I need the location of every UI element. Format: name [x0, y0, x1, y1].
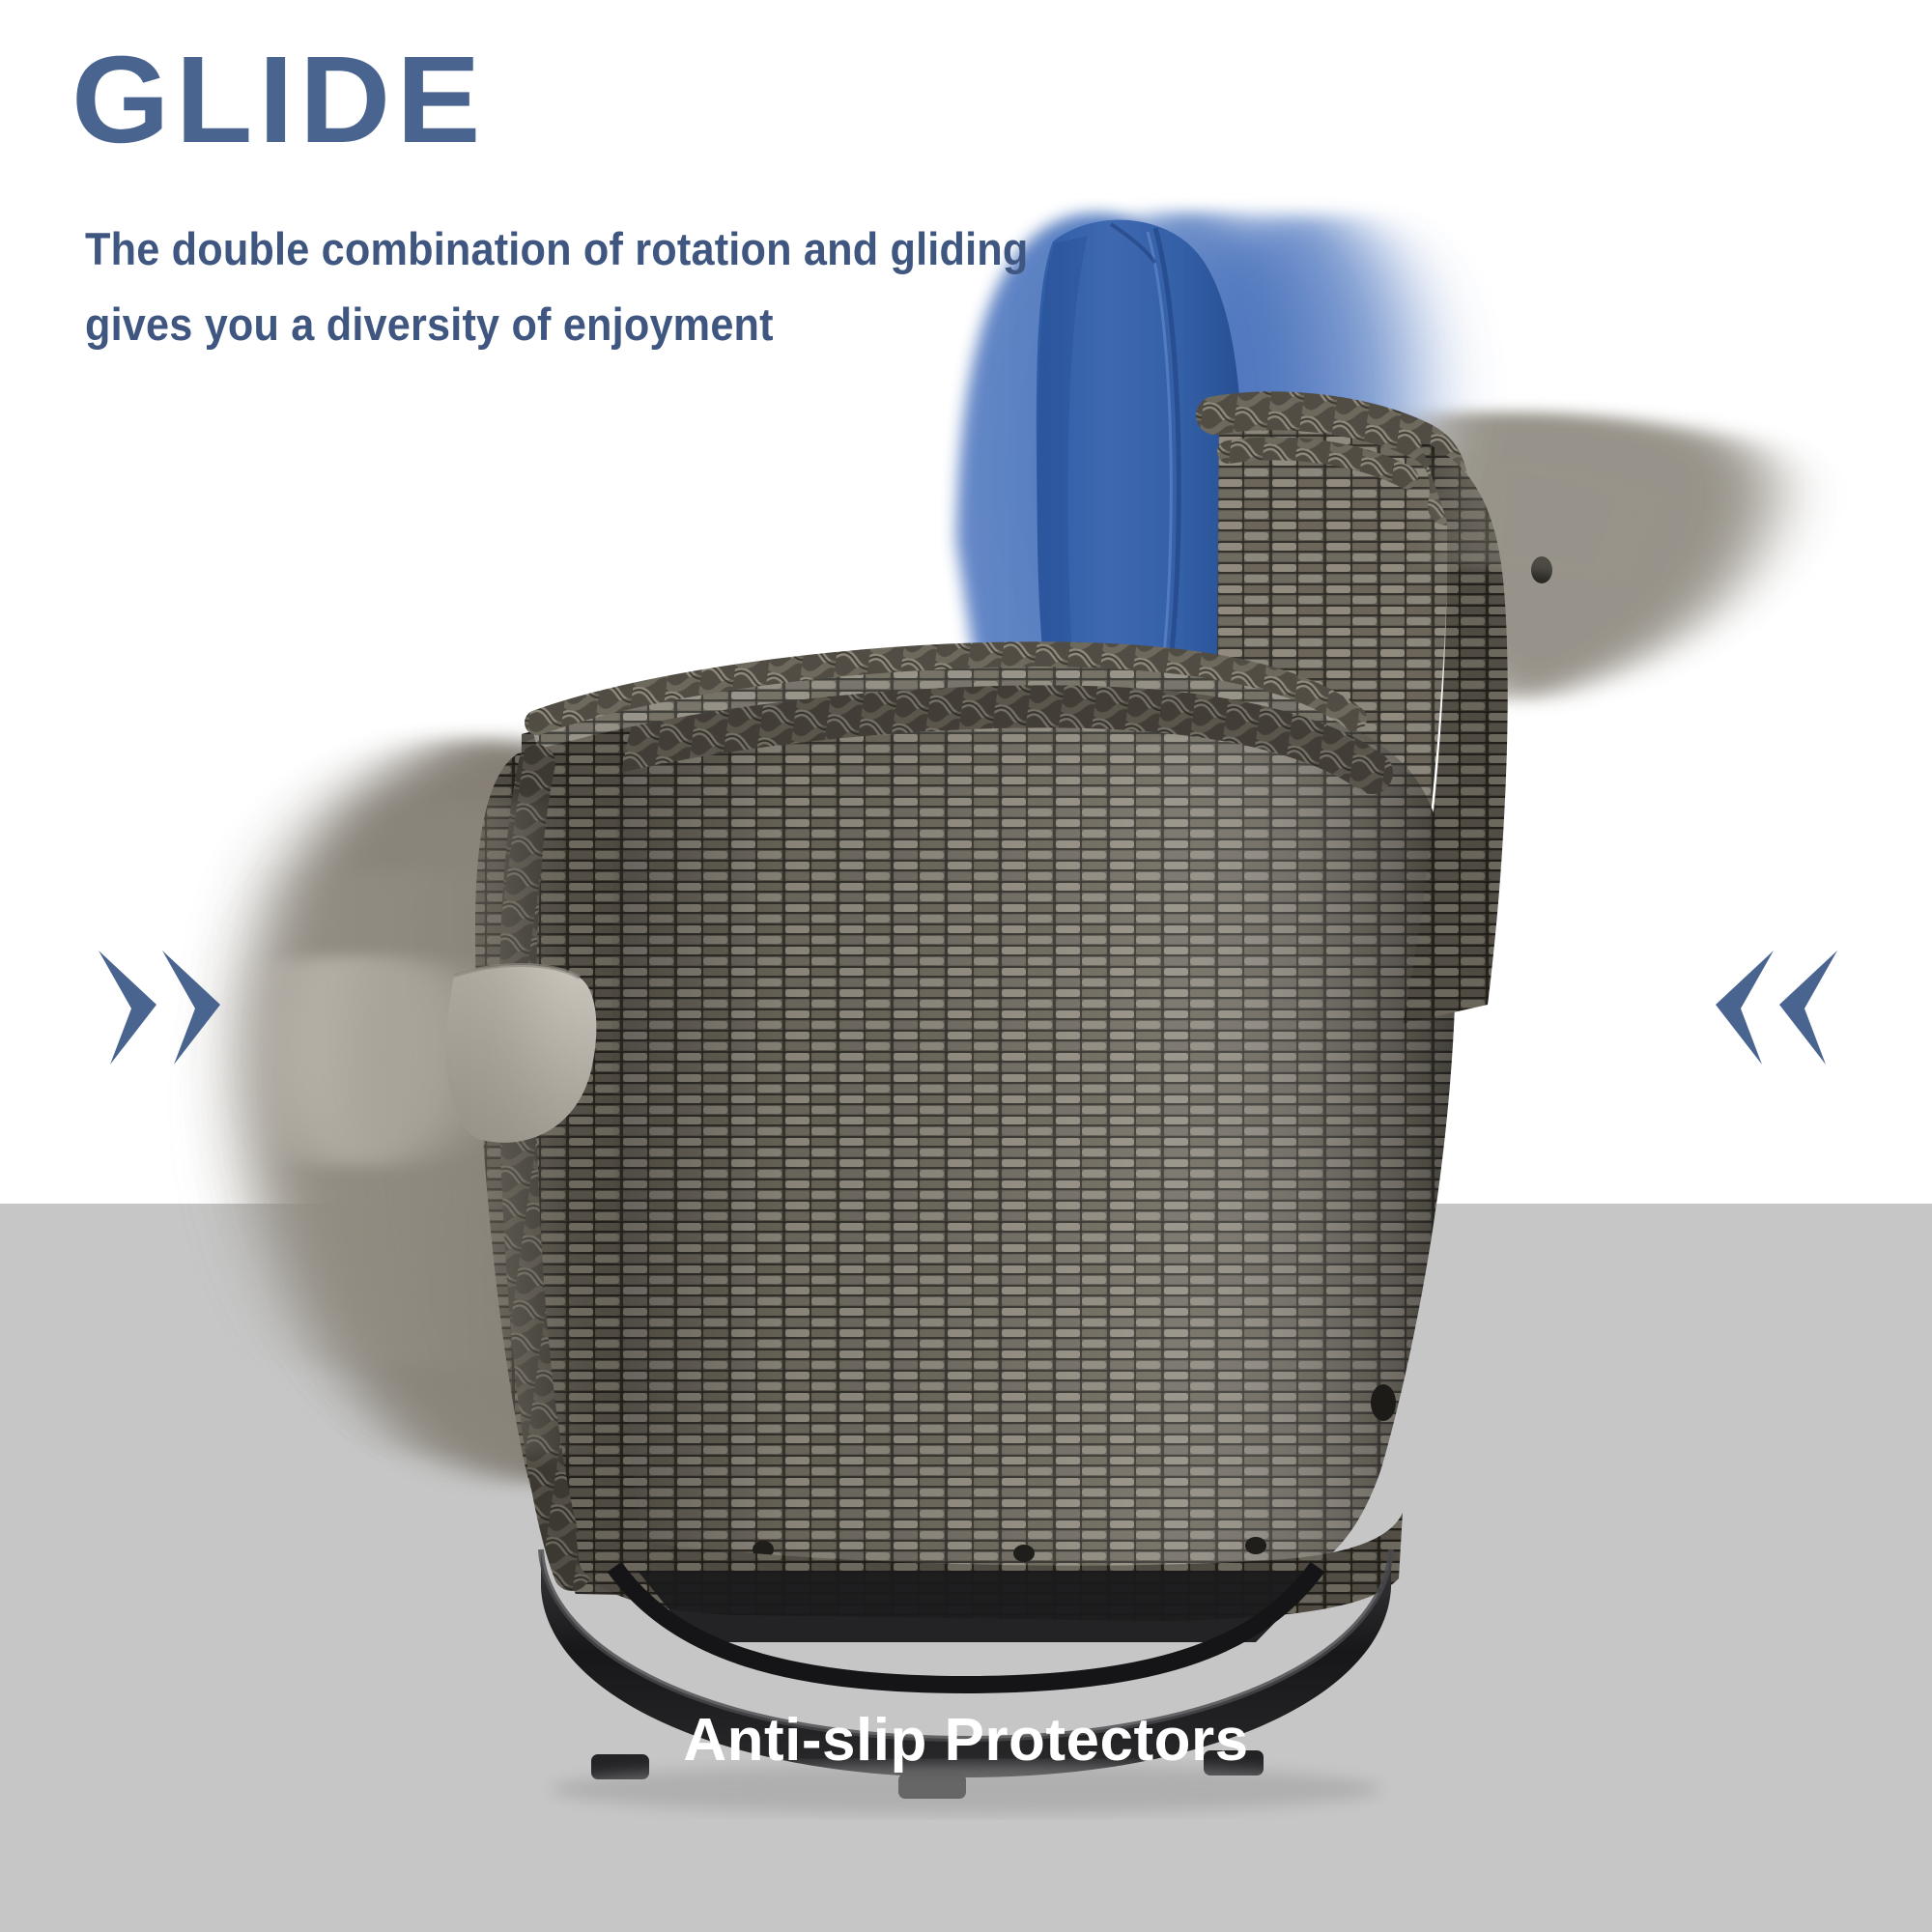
chevron-right-2 [162, 951, 220, 1065]
chevron-left-1 [1779, 951, 1837, 1065]
chevron-left-2 [1716, 951, 1774, 1065]
chevron-right-1 [99, 951, 156, 1065]
promo-graphic: GLIDE The double combination of rotation… [0, 0, 1932, 1932]
double-chevron-right-icon [93, 945, 228, 1075]
double-chevron-left-icon [1708, 945, 1843, 1075]
background-upper-white [0, 0, 1932, 1204]
feature-caption: Anti-slip Protectors [0, 1706, 1932, 1775]
page-title: GLIDE [71, 39, 487, 162]
subheading-line-1: The double combination of rotation and g… [85, 222, 1028, 275]
background-lower-gray [0, 1204, 1932, 1932]
subheading-line-2: gives you a diversity of enjoyment [85, 298, 774, 351]
